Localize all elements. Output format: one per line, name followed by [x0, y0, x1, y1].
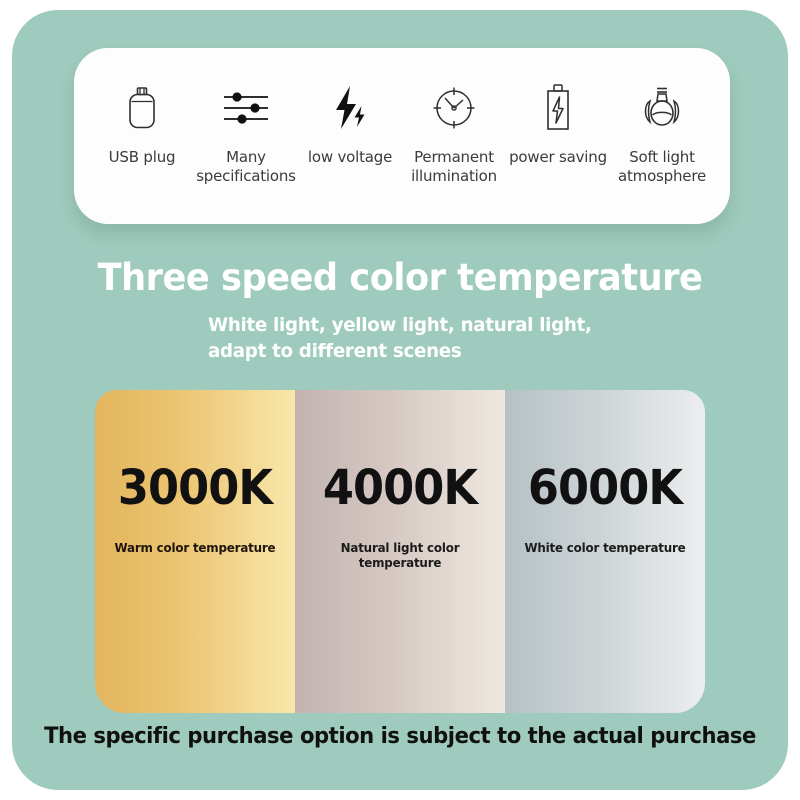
color-panel-3000k: 3000K Warm color temperature	[95, 390, 295, 713]
clock-icon	[430, 82, 478, 134]
page-title: Three speed color temperature	[20, 256, 780, 300]
kelvin-value: 4000K	[302, 462, 497, 514]
feature-highlights-card: USB plug Many specifications	[74, 48, 730, 224]
battery-icon	[541, 82, 575, 134]
kelvin-value: 3000K	[102, 462, 288, 514]
feature-label: Soft light atmosphere	[610, 148, 714, 186]
lightning-bolt-icon	[330, 82, 370, 134]
feature-item-soft-light-atmosphere: Soft light atmosphere	[610, 82, 714, 186]
feature-item-low-voltage: low voltage	[298, 82, 402, 167]
kelvin-value: 6000K	[512, 462, 698, 514]
product-infographic: USB plug Many specifications	[0, 0, 800, 800]
subtitle-line-1: White light, yellow light, natural light…	[208, 312, 592, 338]
feature-item-permanent-illumination: Permanent illumination	[402, 82, 506, 186]
kelvin-caption: Natural light color temperature	[300, 540, 500, 570]
feature-item-power-saving: power saving	[506, 82, 610, 167]
color-temperature-panels: 3000K Warm color temperature 4000K Natur…	[95, 390, 705, 713]
feature-label: power saving	[509, 148, 607, 167]
feature-label: USB plug	[109, 148, 176, 167]
feature-label: Many specifications	[194, 148, 298, 186]
color-panel-6000k: 6000K White color temperature	[505, 390, 705, 713]
color-panel-4000k: 4000K Natural light color temperature	[295, 390, 505, 713]
subtitle-block: White light, yellow light, natural light…	[0, 312, 800, 364]
purchase-disclaimer: The specific purchase option is subject …	[24, 723, 776, 749]
feature-list: USB plug Many specifications	[74, 48, 730, 224]
kelvin-caption: Warm color temperature	[100, 540, 290, 555]
feature-label: low voltage	[308, 148, 392, 167]
subtitle: White light, yellow light, natural light…	[208, 312, 592, 364]
soft-light-bulb-icon	[637, 82, 687, 134]
kelvin-caption: White color temperature	[510, 540, 700, 555]
usb-plug-icon	[124, 82, 160, 134]
feature-item-many-specifications: Many specifications	[194, 82, 298, 186]
feature-label: Permanent illumination	[402, 148, 506, 186]
subtitle-line-2: adapt to different scenes	[208, 338, 592, 364]
sliders-icon	[220, 82, 272, 134]
feature-item-usb-plug: USB plug	[90, 82, 194, 167]
